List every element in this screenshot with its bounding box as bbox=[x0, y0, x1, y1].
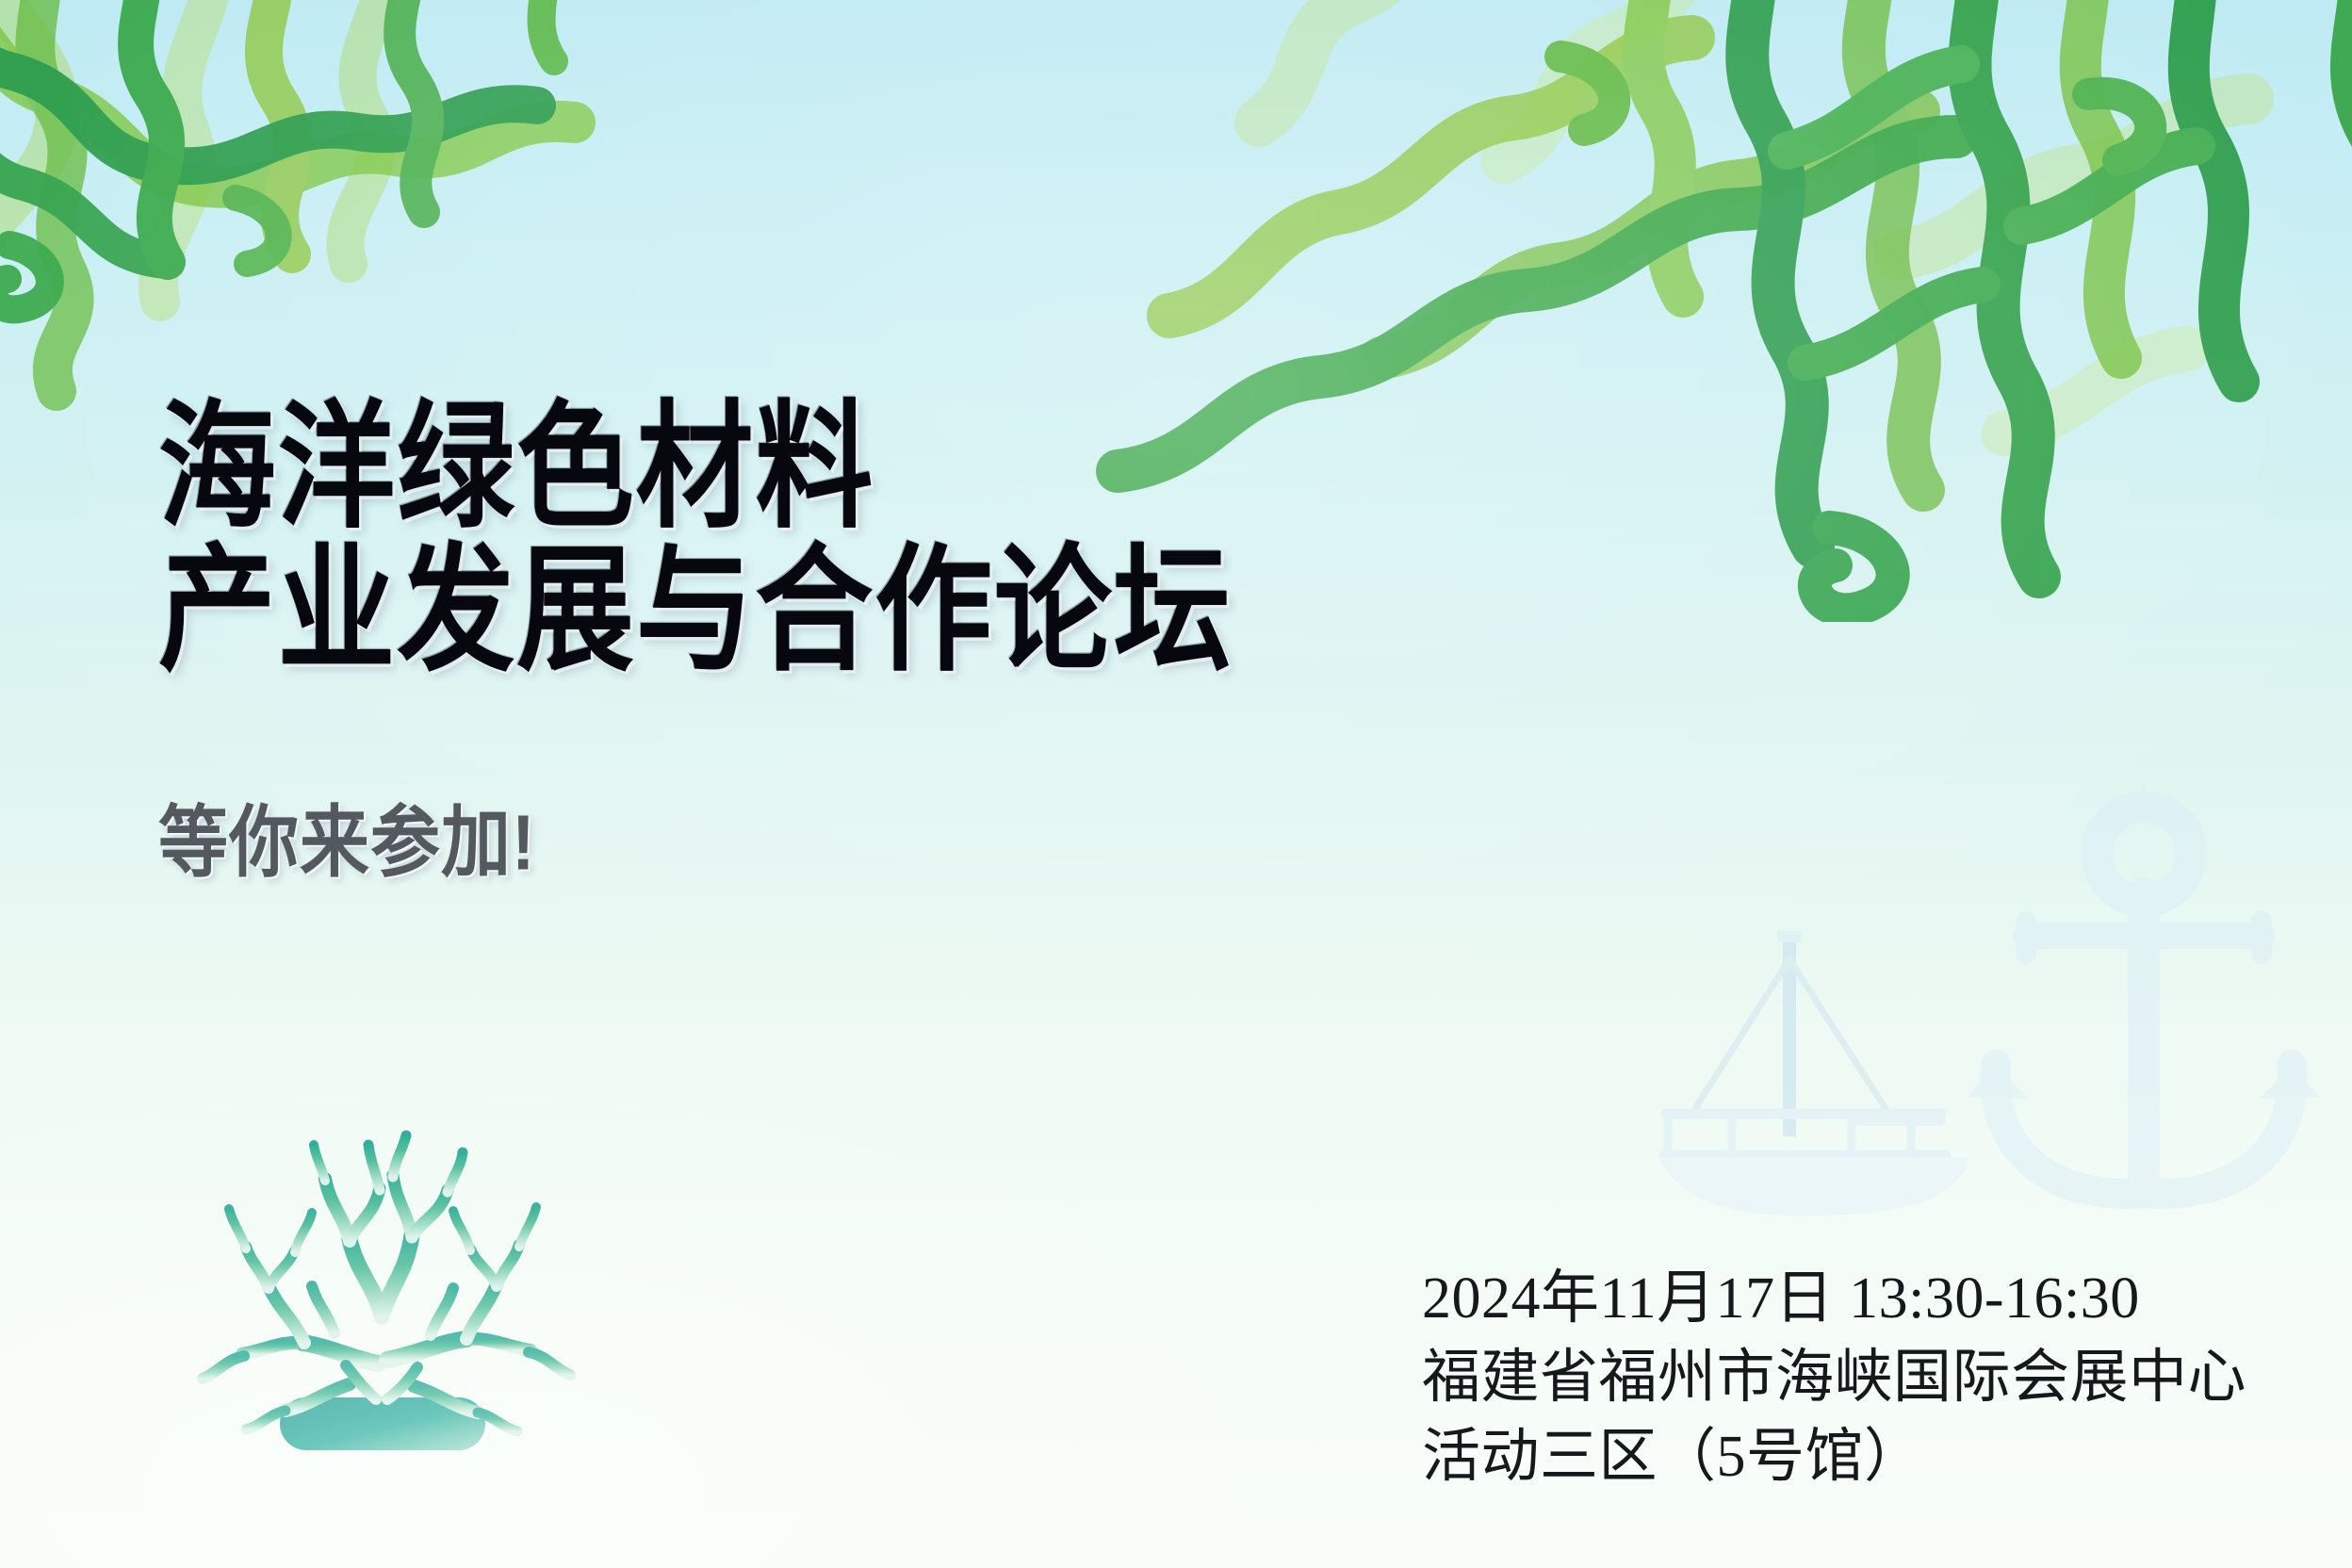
subtitle-call-to-action: 等你来参加! bbox=[158, 796, 536, 890]
event-datetime: 2024年11月17日 13:30-16:30 bbox=[1422, 1259, 2246, 1338]
coral-illustration bbox=[174, 1117, 589, 1494]
event-info-block: 2024年11月17日 13:30-16:30 福建省福州市海峡国际会展中心 活… bbox=[1422, 1259, 2246, 1496]
poster-canvas: 海洋绿色材料 产业发展与合作论坛 等你来参加! 2024年11月17日 13:3… bbox=[0, 0, 2352, 1568]
headline-line-2: 产业发展与合作论坛 bbox=[158, 528, 1233, 694]
anchor-watermark-icon bbox=[1960, 782, 2327, 1216]
event-hall: 活动三区（5号馆） bbox=[1422, 1417, 2246, 1496]
event-venue: 福建省福州市海峡国际会展中心 bbox=[1422, 1338, 2246, 1417]
boat-watermark-icon bbox=[1658, 905, 2111, 1216]
page-title: 海洋绿色材料 产业发展与合作论坛 bbox=[158, 384, 1244, 671]
headline-line-1: 海洋绿色材料 bbox=[158, 384, 1233, 550]
